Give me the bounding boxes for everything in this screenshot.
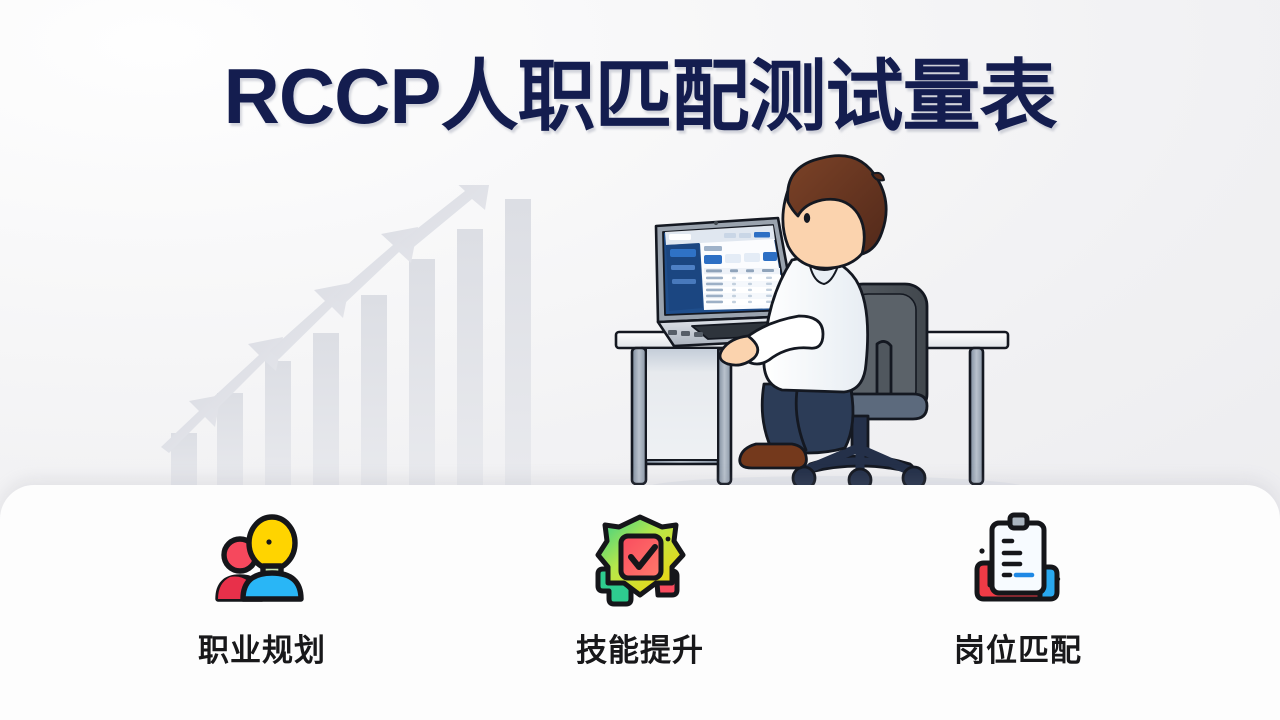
feature-label: 职业规划 xyxy=(198,625,326,670)
two-people-icon xyxy=(210,511,314,607)
person-working-at-desk-illustration xyxy=(596,148,1036,508)
clipboard-icon xyxy=(966,511,1070,607)
feature-skill-improvement[interactable]: 技能提升 xyxy=(555,511,725,670)
feature-career-planning[interactable]: 职业规划 xyxy=(177,511,347,670)
growth-arrows-bar-chart-watermark xyxy=(155,185,625,505)
badge-check-icon xyxy=(588,511,692,607)
feature-label: 岗位匹配 xyxy=(954,625,1082,670)
features-row: 职业规划 xyxy=(0,485,1280,720)
feature-job-matching[interactable]: 岗位匹配 xyxy=(933,511,1103,670)
slide-canvas: RCCP人职匹配测试量表 xyxy=(0,0,1280,720)
features-panel: 职业规划 xyxy=(0,485,1280,720)
feature-label: 技能提升 xyxy=(576,625,704,670)
page-title: RCCP人职匹配测试量表 xyxy=(0,48,1280,144)
